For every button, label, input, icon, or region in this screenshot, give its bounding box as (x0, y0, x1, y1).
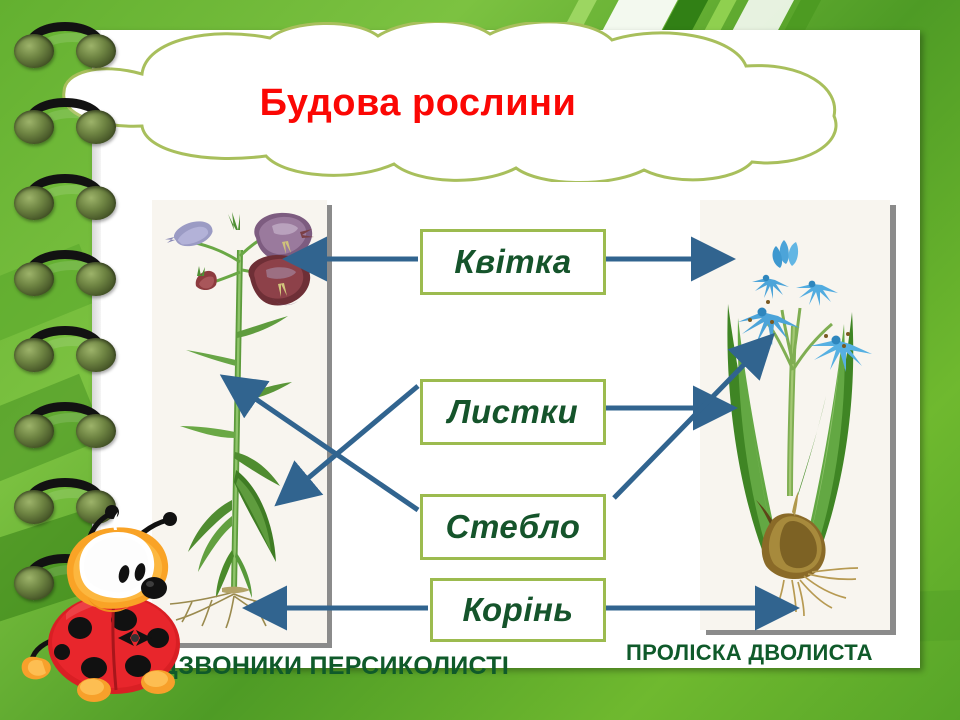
binding-ring (14, 408, 116, 448)
squill-illustration (700, 200, 890, 630)
label-kvitka[interactable]: Квітка (420, 229, 606, 295)
caption-left-plant: ДЗВОНИКИ ПЕРСИКОЛИСТІ (160, 652, 509, 681)
binding-ring (14, 332, 116, 372)
slide-canvas: Будова рослини (0, 0, 960, 720)
caption-right-plant: ПРОЛІСКА ДВОЛИСТА (626, 640, 873, 666)
label-korin[interactable]: Корінь (430, 578, 606, 642)
page-title: Будова рослини (0, 82, 836, 125)
label-steblo[interactable]: Стебло (420, 494, 606, 560)
binding-ring (14, 104, 116, 144)
binding-ring (14, 256, 116, 296)
binding-ring (14, 180, 116, 220)
binding-ring (14, 28, 116, 68)
label-lystky[interactable]: Листки (420, 379, 606, 445)
ladybug-mascot-icon (18, 492, 203, 707)
